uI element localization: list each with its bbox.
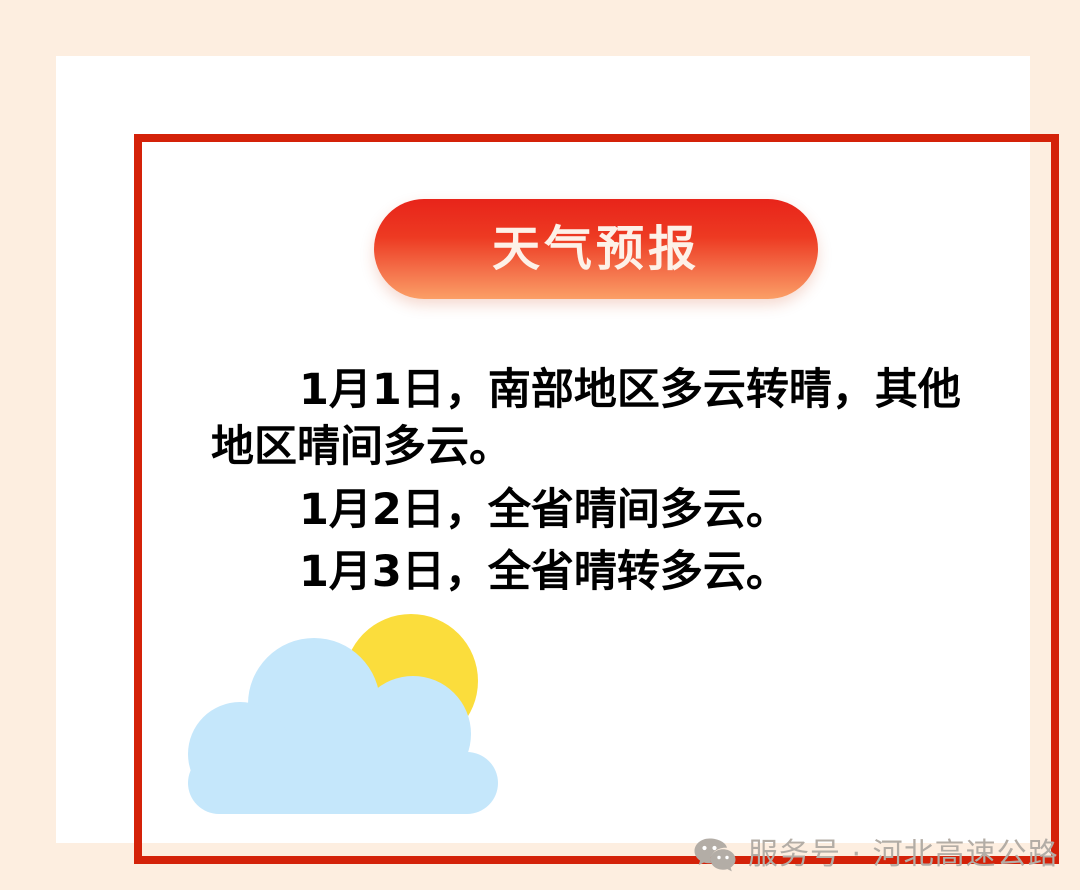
forecast-body: 1月1日，南部地区多云转晴，其他地区晴间多云。 1月2日，全省晴间多云。 1月3… xyxy=(211,362,1001,607)
forecast-line-1: 1月1日，南部地区多云转晴，其他地区晴间多云。 xyxy=(211,362,1001,476)
page-title: 天气预报 xyxy=(492,225,700,273)
forecast-line-2: 1月2日，全省晴间多云。 xyxy=(211,482,1001,539)
sun-behind-cloud-icon xyxy=(178,604,518,824)
poster-card: 天气预报 1月1日，南部地区多云转晴，其他地区晴间多云。 1月2日，全省晴间多云… xyxy=(56,56,1030,843)
wechat-icon xyxy=(694,838,736,872)
forecast-line-3: 1月3日，全省晴转多云。 xyxy=(211,544,1001,601)
title-banner: 天气预报 xyxy=(374,199,818,299)
footer-account-name: 服务号 · 河北高速公路 xyxy=(748,840,1059,870)
footer-attribution: 服务号 · 河北高速公路 xyxy=(694,838,1059,872)
